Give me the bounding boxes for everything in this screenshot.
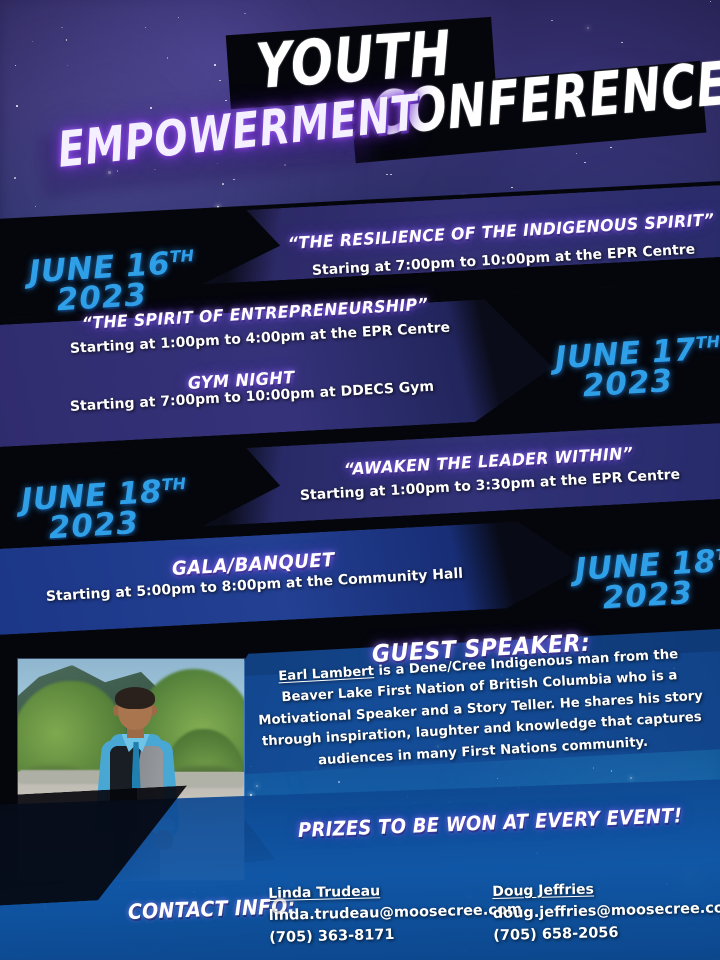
event-2-date-ordinal: TH [695, 332, 720, 352]
event-4-date-ordinal: TH [715, 545, 720, 564]
event-3-date-ordinal: TH [161, 474, 186, 494]
poster-root: YOUTH CONFERENCE EMPOWERMENT JUNE 16TH 2… [0, 0, 720, 960]
speaker-name: Earl Lambert [278, 664, 374, 684]
event-1-date: JUNE 16TH 2023 [28, 248, 197, 318]
person-glasses [118, 704, 152, 712]
event-2-date: JUNE 17TH 2023 [554, 334, 720, 404]
contact-person-1: Linda Trudeau linda.trudeau@moosecree.co… [268, 878, 523, 949]
event-1-date-ordinal: TH [169, 246, 194, 266]
contact-person-2: Doug Jeffries doug.jeffries@moosecree.co… [492, 876, 720, 947]
speaker-bio-text: is a Dene/Cree Indigenous man from the B… [258, 647, 703, 768]
